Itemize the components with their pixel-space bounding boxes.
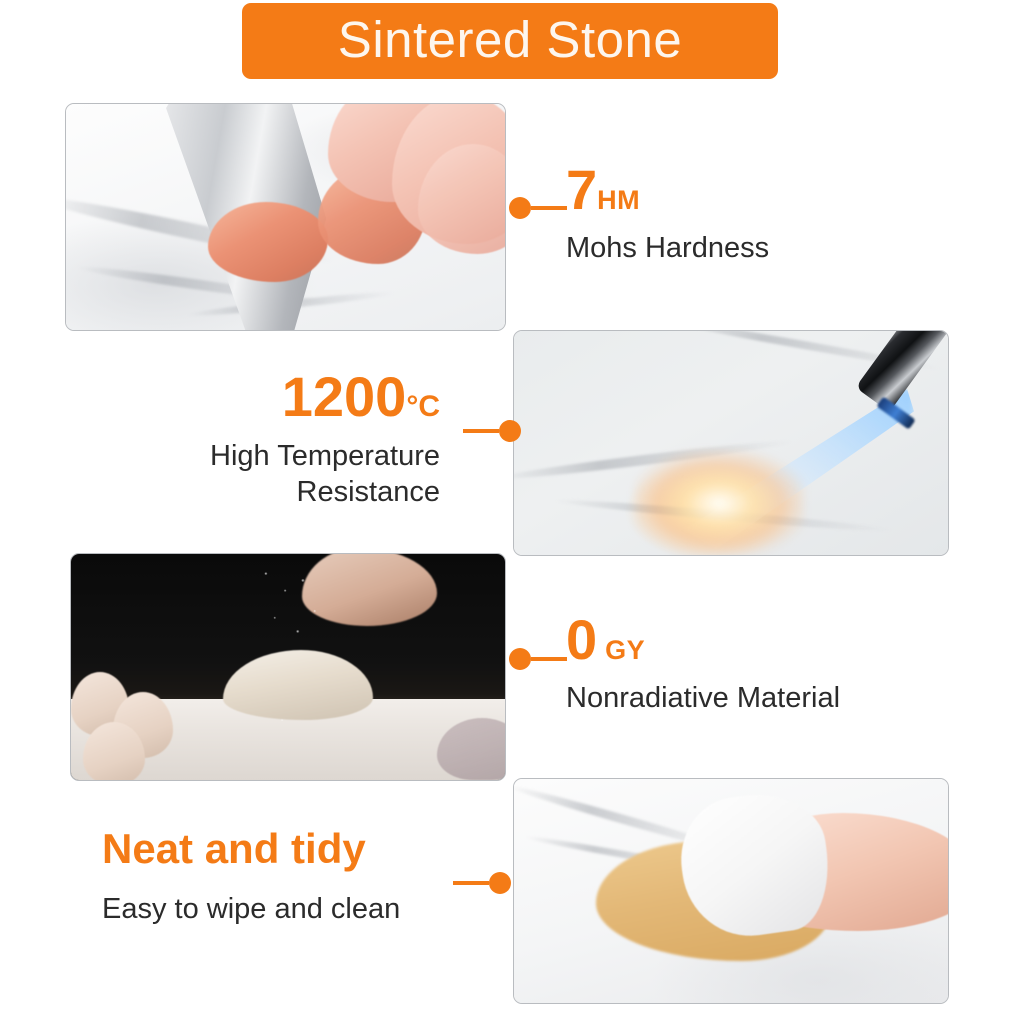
stat-number: 7 — [566, 158, 597, 221]
stat-unit: HM — [597, 185, 640, 215]
stat-value-temperature: 1200°C — [120, 369, 440, 425]
stat-value-mohs: 7HM — [566, 162, 769, 218]
stat-number: 1200 — [282, 365, 407, 428]
stat-nonradiative: 0GY Nonradiative Material — [566, 612, 840, 715]
stat-caption-temperature-line2: Resistance — [120, 475, 440, 509]
connector-dot-icon — [509, 197, 531, 219]
stat-unit: GY — [605, 635, 645, 665]
stat-number: 0 — [566, 608, 597, 671]
page-title-banner: Sintered Stone — [242, 3, 778, 79]
stat-neat-and-tidy: Neat and tidy Easy to wipe and clean — [102, 828, 442, 926]
connector-neat-and-tidy — [453, 872, 511, 894]
stat-caption-temperature-line1: High Temperature — [120, 439, 440, 473]
stat-caption-radiation: Nonradiative Material — [566, 681, 840, 715]
connector-line — [531, 657, 567, 661]
connector-dot-icon — [489, 872, 511, 894]
stat-caption-mohs: Mohs Hardness — [566, 231, 769, 265]
heat-glow — [634, 451, 804, 556]
flour-dough-photo — [70, 553, 506, 781]
connector-line — [463, 429, 499, 433]
salmon-slice — [208, 202, 328, 282]
stat-headline-tidy: Neat and tidy — [102, 828, 442, 870]
infographic-root: Sintered Stone 7HM Mohs Hardness — [0, 0, 1018, 1018]
connector-nonradiative — [509, 648, 567, 670]
connector-line — [531, 206, 567, 210]
knife-cutting-salmon-photo — [65, 103, 506, 331]
blowtorch-flame-photo — [513, 330, 949, 556]
stat-high-temperature: 1200°C High Temperature Resistance — [120, 369, 440, 509]
stat-unit: °C — [406, 390, 440, 423]
connector-dot-icon — [509, 648, 531, 670]
wiping-stain-photo — [513, 778, 949, 1004]
connector-dot-icon — [499, 420, 521, 442]
connector-high-temperature — [463, 420, 521, 442]
stat-value-radiation: 0GY — [566, 612, 840, 668]
connector-line — [453, 881, 489, 885]
stat-caption-tidy: Easy to wipe and clean — [102, 892, 442, 926]
page-title: Sintered Stone — [338, 14, 682, 69]
stat-mohs-hardness: 7HM Mohs Hardness — [566, 162, 769, 265]
connector-mohs-hardness — [509, 197, 567, 219]
